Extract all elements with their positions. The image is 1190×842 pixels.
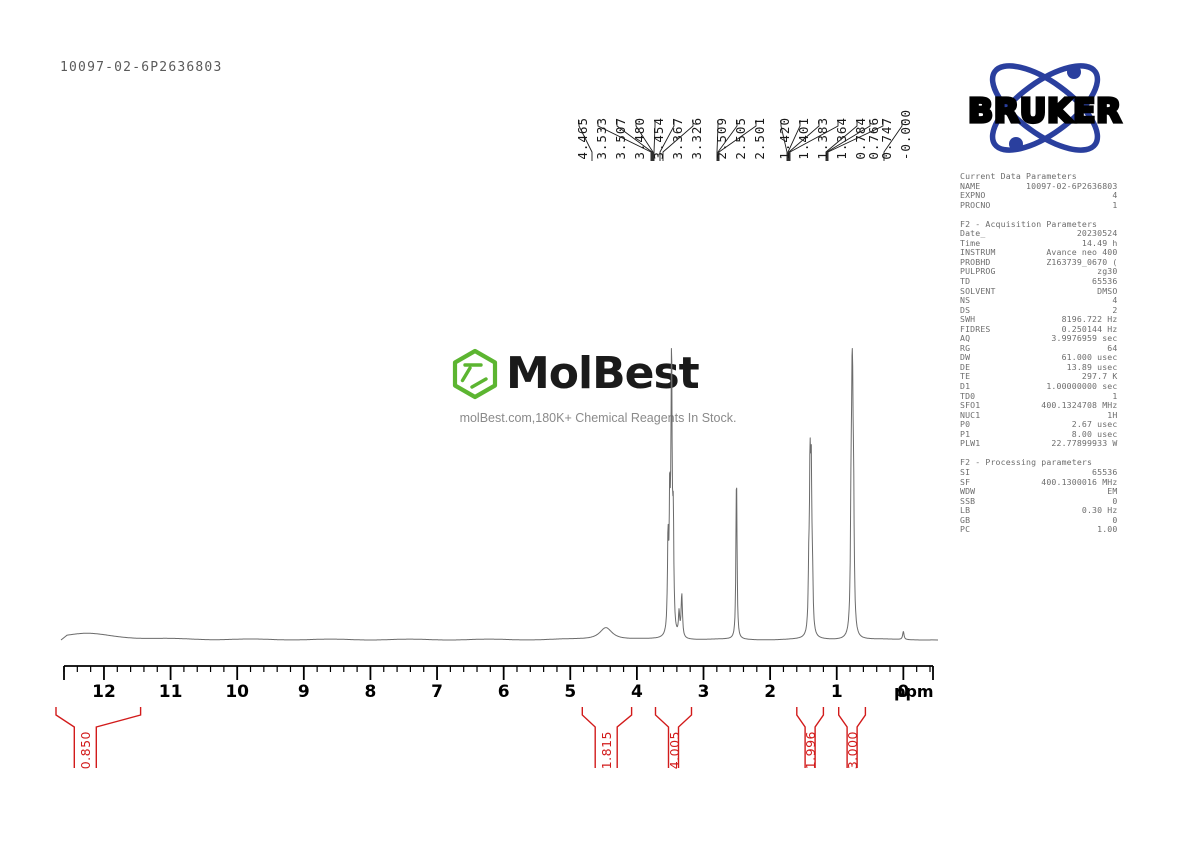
- integral-value: 4.005: [667, 731, 682, 769]
- peak-leader-line: [636, 120, 653, 161]
- peak-leader-line: [828, 120, 883, 161]
- axis-tick-label: 6: [498, 682, 510, 702]
- integral-value: 1.996: [803, 731, 818, 769]
- peak-leader-line: [790, 120, 838, 161]
- peak-leader-line: [598, 120, 651, 161]
- integral-value: 1.815: [599, 731, 614, 769]
- axis-tick-label: 7: [431, 682, 443, 702]
- spectrum-trace-svg: [0, 300, 1000, 650]
- peak-leader-line: [663, 120, 693, 161]
- axis-unit-label: ppm: [894, 682, 934, 701]
- bruker-electron-top: [1067, 65, 1081, 79]
- peak-leader-line: [781, 120, 787, 161]
- axis-tick-label: 12: [92, 682, 116, 702]
- peak-leader-line: [579, 120, 592, 161]
- axis-tick-label: 11: [159, 682, 183, 702]
- peak-leader-line: [617, 120, 652, 161]
- axis-tick-label: 3: [698, 682, 710, 702]
- bruker-wordmark: BRUKER: [968, 91, 1122, 130]
- axis-tick-label: 5: [564, 682, 576, 702]
- integral-curve-right: [617, 707, 631, 768]
- axis-tick-label: 1: [831, 682, 843, 702]
- nmr-report-page: 10097-02-6P2636803 4.4653.5333.5073.4803…: [0, 0, 1190, 842]
- axis-tick-label: 10: [225, 682, 249, 702]
- integral-curve-right: [96, 707, 140, 768]
- integral-value: 0.850: [78, 731, 93, 769]
- axis-tick-label: 2: [764, 682, 776, 702]
- integral-curve-left: [582, 707, 595, 768]
- integral-group: 0.8501.8154.0051.9963.000: [0, 705, 1000, 780]
- axis-tick-label: 8: [365, 682, 377, 702]
- peak-leader-line: [718, 120, 737, 161]
- peak-leader-line: [660, 120, 674, 161]
- peak-leader-line: [884, 120, 902, 161]
- bruker-electron-bottom: [1009, 137, 1023, 151]
- spectrum-plot: [0, 300, 1000, 650]
- peak-leader-line: [827, 120, 870, 161]
- axis-tick-label: 4: [631, 682, 643, 702]
- integral-value: 3.000: [845, 731, 860, 769]
- peak-leader-line: [719, 120, 756, 161]
- axis-ticks: [0, 662, 1000, 684]
- peak-leader-lines: [560, 118, 905, 163]
- spectrum-trace: [61, 349, 938, 641]
- bruker-logo: BRUKER: [958, 52, 1133, 164]
- peak-leader-line: [654, 120, 655, 161]
- parameter-line: PROCNO 1: [960, 201, 1125, 211]
- sample-id-label: 10097-02-6P2636803: [60, 60, 222, 75]
- integral-curve-left: [56, 707, 74, 768]
- axis-tick-label: 9: [298, 682, 310, 702]
